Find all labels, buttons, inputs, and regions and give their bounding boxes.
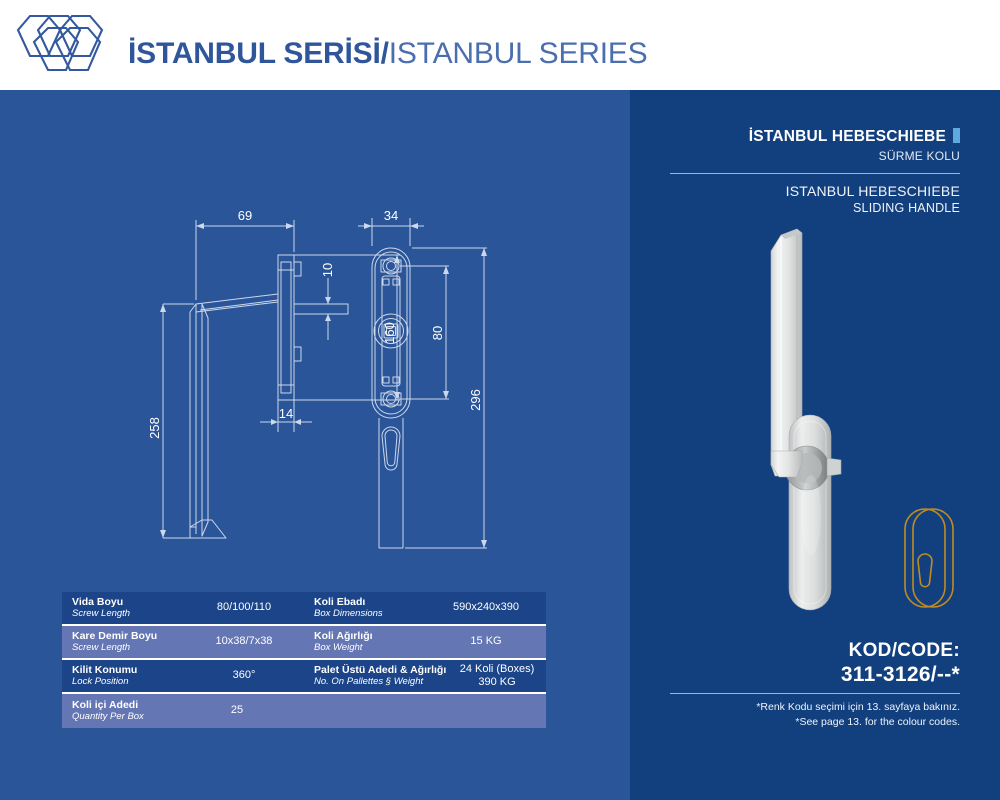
spec-label-tr: Koli Ağırlığı [314, 631, 432, 643]
table-cell-right: Koli Ebadı Box Dimensions 590x240x390 [304, 592, 546, 624]
product-title-en: ISTANBUL HEBESCHIEBE [670, 183, 960, 199]
spec-label: Palet Üstü Adedi & Ağırlığı No. On Palle… [304, 665, 454, 687]
dim-34: 34 [384, 208, 398, 223]
product-code-block: KOD/CODE: 311-3126/--* *Renk Kodu seçimi… [670, 640, 960, 730]
product-title-tr: İSTANBUL HEBESCHIEBE [670, 128, 960, 146]
spec-label-en: Lock Position [72, 677, 190, 688]
spec-value: 80/100/110 [190, 601, 304, 614]
page-title: İSTANBUL SERİSİ/ISTANBUL SERIES [128, 37, 647, 71]
code-divider [670, 693, 960, 694]
table-row: Kilit Konumu Lock Position 360° Palet Üs… [62, 660, 546, 692]
spec-label: Koli içi Adedi Quantity Per Box [62, 700, 190, 722]
dim-258: 258 [150, 417, 162, 439]
spec-label-tr: Vida Boyu [72, 597, 190, 609]
code-label: KOD/CODE: [670, 640, 960, 662]
table-row-last: Koli içi Adedi Quantity Per Box 25 [62, 694, 546, 728]
product-datasheet-page: İSTANBUL SERİSİ/ISTANBUL SERIES [0, 0, 1000, 800]
page-header: İSTANBUL SERİSİ/ISTANBUL SERIES [0, 0, 1000, 90]
page-title-en: ISTANBUL SERIES [389, 37, 648, 70]
spec-label-tr: Koli içi Adedi [72, 700, 190, 712]
dim-160-label: 160 [382, 322, 397, 344]
spec-label: Koli Ebadı Box Dimensions [304, 597, 432, 619]
spec-value: 10x38/7x38 [190, 635, 304, 648]
dim-296: 296 [468, 389, 483, 411]
table-cell-left: Kilit Konumu Lock Position 360° [62, 660, 304, 692]
spec-label: Vida Boyu Screw Length [62, 597, 190, 619]
table-row: Kare Demir Boyu Screw Length 10x38/7x38 … [62, 626, 546, 658]
product-title-block: İSTANBUL HEBESCHIEBE SÜRME KOLU ISTANBUL… [670, 128, 960, 215]
keyhole-escutcheon-icon [895, 503, 965, 613]
spec-value: 15 KG [432, 635, 546, 648]
spec-label-en: Screw Length [72, 643, 190, 654]
spec-label-tr: Palet Üstü Adedi & Ağırlığı [314, 665, 454, 677]
dim-69: 69 [238, 208, 252, 223]
spec-label-tr: Koli Ebadı [314, 597, 432, 609]
spec-label: Kare Demir Boyu Screw Length [62, 631, 190, 653]
dim-10: 10 [320, 263, 335, 277]
w-hexagon-logo [14, 12, 124, 84]
page-title-tr: İSTANBUL SERİSİ/ [128, 37, 389, 70]
code-value: 311-3126/--* [670, 663, 960, 687]
technical-drawing: 69 10 258 14 34 80 296 160 [150, 200, 510, 590]
spec-label-en: No. On Pallettes § Weight [314, 677, 454, 688]
spec-label: Kilit Konumu Lock Position [62, 665, 190, 687]
product-subtitle-tr: SÜRME KOLU [670, 149, 960, 163]
dim-80: 80 [430, 326, 445, 340]
spec-value: 590x240x390 [432, 601, 546, 614]
table-cell-right: Palet Üstü Adedi & Ağırlığı No. On Palle… [304, 660, 546, 692]
colour-note-en: *See page 13. for the colour codes. [670, 715, 960, 730]
spec-label-tr: Kare Demir Boyu [72, 631, 190, 643]
sliding-handle-photo [745, 215, 885, 615]
title-divider [670, 173, 960, 174]
product-subtitle-en: SLIDING HANDLE [670, 201, 960, 215]
spec-value: 360° [190, 669, 304, 682]
spec-value: 24 Koli (Boxes) 390 KG [454, 663, 546, 689]
table-cell-right: Koli Ağırlığı Box Weight 15 KG [304, 626, 546, 658]
specifications-table: Vida Boyu Screw Length 80/100/110 Koli E… [62, 592, 546, 728]
table-cell-left: Vida Boyu Screw Length 80/100/110 [62, 592, 304, 624]
spec-label: Koli Ağırlığı Box Weight [304, 631, 432, 653]
colour-note-tr: *Renk Kodu seçimi için 13. sayfaya bakın… [670, 700, 960, 715]
spec-label-en: Box Weight [314, 643, 432, 654]
spec-label-tr: Kilit Konumu [72, 665, 190, 677]
spec-label-en: Quantity Per Box [72, 712, 190, 723]
dim-14: 14 [279, 406, 293, 421]
spec-value: 25 [190, 704, 290, 717]
spec-label-en: Screw Length [72, 609, 190, 620]
table-cell-left: Kare Demir Boyu Screw Length 10x38/7x38 [62, 626, 304, 658]
spec-label-en: Box Dimensions [314, 609, 432, 620]
table-row: Vida Boyu Screw Length 80/100/110 Koli E… [62, 592, 546, 624]
vertical-bar-accent-icon [953, 128, 960, 143]
